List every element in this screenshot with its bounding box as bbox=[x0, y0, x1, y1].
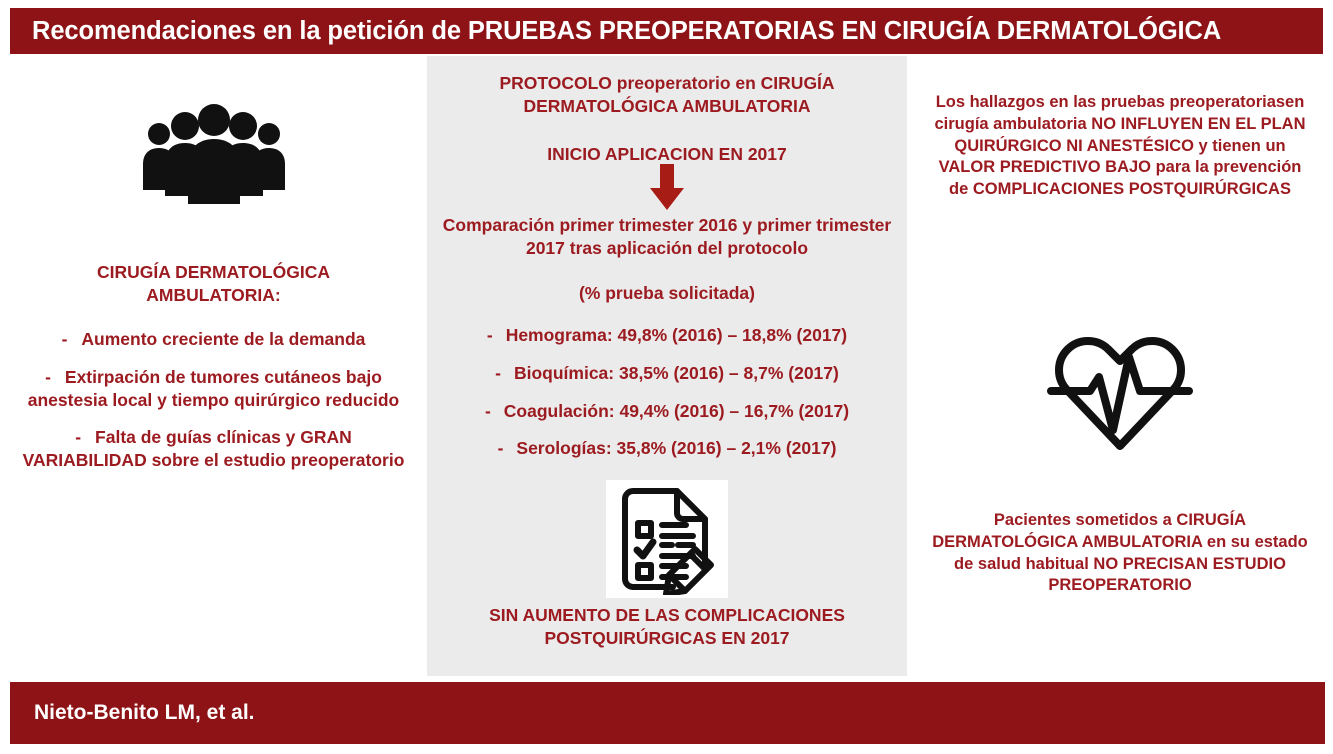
bullet-marker: - bbox=[485, 401, 491, 421]
bullet-marker: - bbox=[498, 438, 504, 458]
right-column-top-statement: Los hallazgos en las pruebas preoperator… bbox=[933, 92, 1307, 201]
comparison-description: Comparación primer trimester 2016 y prim… bbox=[437, 214, 897, 260]
bullet-marker: - bbox=[487, 325, 493, 345]
test-result-line: Coagulación: 49,4% (2016) – 16,7% (2017) bbox=[504, 401, 849, 421]
checklist-document-pencil-icon-container bbox=[427, 480, 907, 598]
list-item: -Aumento creciente de la demanda bbox=[10, 328, 417, 351]
middle-column-conclusion: SIN AUMENTO DE LAS COMPLICACIONES POSTQU… bbox=[443, 604, 891, 650]
heart-ecg-pulse-icon bbox=[907, 328, 1333, 458]
right-column-bottom-statement: Pacientes sometidos a CIRUGÍA DERMATOLÓG… bbox=[923, 510, 1317, 597]
poster-footer-bar: Nieto-Benito LM, et al. bbox=[10, 682, 1325, 744]
protocol-heading-block: PROTOCOLO preoperatorio en CIRUGÍA DERMA… bbox=[443, 72, 891, 166]
list-item-label: Extirpación de tumores cutáneos bajo ane… bbox=[28, 367, 399, 410]
bullet-marker: - bbox=[45, 367, 51, 387]
bullet-marker: - bbox=[75, 427, 81, 447]
citation-label: Nieto-Benito LM, et al. bbox=[34, 701, 255, 725]
left-column-heading: CIRUGÍA DERMATOLÓGICA AMBULATORIA: bbox=[40, 261, 387, 307]
bullet-marker: - bbox=[62, 329, 68, 349]
group-of-people-icon bbox=[0, 104, 427, 204]
down-arrow-icon bbox=[427, 164, 907, 210]
metric-note: (% prueba solicitada) bbox=[437, 282, 897, 305]
test-results-list: -Hemograma: 49,8% (2016) – 18,8% (2017) … bbox=[433, 324, 901, 475]
table-row: -Coagulación: 49,4% (2016) – 16,7% (2017… bbox=[433, 400, 901, 423]
list-item: -Extirpación de tumores cutáneos bajo an… bbox=[10, 366, 417, 412]
test-result-line: Bioquímica: 38,5% (2016) – 8,7% (2017) bbox=[514, 363, 839, 383]
infographic-poster: Recomendaciones en la petición de PRUEBA… bbox=[0, 0, 1333, 754]
left-column-bullet-list: -Aumento creciente de la demanda -Extirp… bbox=[10, 328, 417, 487]
poster-title-bar: Recomendaciones en la petición de PRUEBA… bbox=[10, 8, 1323, 54]
protocol-start-year: INICIO APLICACION EN 2017 bbox=[443, 143, 891, 166]
left-column-panel: CIRUGÍA DERMATOLÓGICA AMBULATORIA: -Aume… bbox=[0, 56, 427, 676]
list-item-label: Aumento creciente de la demanda bbox=[81, 329, 365, 349]
test-result-line: Serologías: 35,8% (2016) – 2,1% (2017) bbox=[516, 438, 836, 458]
columns-container: CIRUGÍA DERMATOLÓGICA AMBULATORIA: -Aume… bbox=[0, 56, 1333, 676]
protocol-title: PROTOCOLO preoperatorio en CIRUGÍA DERMA… bbox=[443, 72, 891, 118]
table-row: -Bioquímica: 38,5% (2016) – 8,7% (2017) bbox=[433, 362, 901, 385]
list-item: -Falta de guías clínicas y GRAN VARIABIL… bbox=[10, 426, 417, 472]
test-result-line: Hemograma: 49,8% (2016) – 18,8% (2017) bbox=[506, 325, 847, 345]
page-title: Recomendaciones en la petición de PRUEBA… bbox=[32, 17, 1221, 46]
table-row: -Serologías: 35,8% (2016) – 2,1% (2017) bbox=[433, 437, 901, 460]
table-row: -Hemograma: 49,8% (2016) – 18,8% (2017) bbox=[433, 324, 901, 347]
bullet-marker: - bbox=[495, 363, 501, 383]
checklist-document-pencil-icon bbox=[606, 480, 728, 598]
